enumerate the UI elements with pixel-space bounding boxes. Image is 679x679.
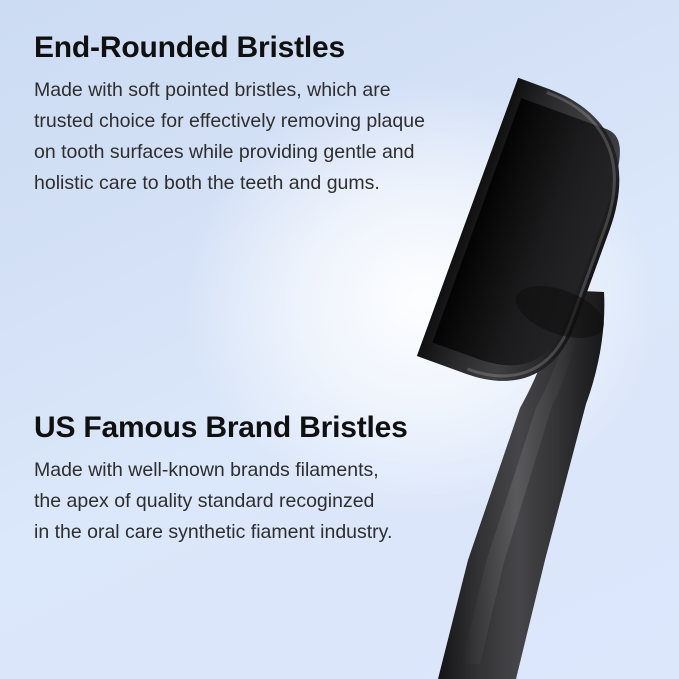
bristle-tuft-base [455, 384, 506, 402]
body-line: the apex of quality standard recoginzed [34, 486, 408, 517]
bristle-tuft-base [459, 125, 516, 146]
feature-block-us-famous-brand: US Famous Brand Bristles Made with well-… [34, 411, 408, 548]
body-line: holistic care to both the teeth and gums… [34, 168, 425, 199]
bristle-tuft-green [446, 340, 585, 403]
body-line: Made with soft pointed bristles, which a… [34, 75, 425, 106]
bristle-tuft-base [470, 97, 518, 114]
bristle-tuft-white [456, 196, 610, 264]
body-line: Made with well-known brands filaments, [34, 455, 408, 486]
bristle-tuft-tip [478, 140, 548, 165]
bristle-tuft-base [443, 345, 511, 370]
bristle-tuft-green [447, 244, 610, 316]
bristle-tuft-base [451, 251, 521, 277]
bristle-tuft-green [455, 362, 571, 416]
heading-end-rounded-bristles: End-Rounded Bristles [34, 31, 425, 65]
bristle-tuft-base [465, 174, 525, 196]
bristle-tuft-tip [451, 242, 547, 277]
bristle-tuft-white [465, 148, 602, 210]
bristle-tuft-white [444, 268, 607, 340]
bristle-tuft-tip [446, 359, 529, 389]
bristle-tuft-green [470, 76, 578, 128]
product-feature-image: End-Rounded Bristles Made with soft poin… [0, 0, 679, 679]
handle-sheen [462, 300, 580, 664]
bristle-tuft-base [478, 147, 530, 166]
heading-us-famous-brand-bristles: US Famous Brand Bristles [34, 411, 408, 445]
bristle-tuft-tip [465, 167, 547, 197]
bristle-tuft-tip [447, 266, 545, 302]
bristle-tuft-tip [442, 314, 538, 349]
toothbrush-head [417, 78, 648, 403]
neck-shadow [509, 276, 611, 349]
bristle-tuft-green [443, 316, 595, 383]
bristle-tuft-green [451, 220, 610, 290]
body-line: trusted choice for effectively removing … [34, 106, 425, 137]
bristle-tuft-tip [456, 217, 548, 251]
bristle-tuft-tip [443, 337, 534, 370]
bristle-tuft-white [442, 292, 601, 362]
bristle-tuft-tip [459, 118, 536, 146]
bristle-tuft-white [460, 172, 606, 237]
bristle-tuft-base [444, 300, 516, 326]
bristle-tuft-green [459, 100, 588, 159]
bristle-tuft-base [446, 367, 507, 389]
bristle-field [390, 70, 650, 370]
body-line: in the oral care synthetic fiament indus… [34, 517, 408, 548]
bristle-tuft-base [447, 276, 519, 302]
body-line: on tooth surfaces while providing gentle… [34, 137, 425, 168]
bristle-tuft-base [442, 323, 512, 349]
bristle-tuft-tip [455, 378, 524, 403]
bristle-tuft-base [460, 200, 525, 224]
bristle-tuft-tip [470, 91, 534, 114]
bristle-tuft-tip [460, 192, 547, 224]
bristle-tuft-tip [444, 290, 542, 326]
feature-block-end-rounded: End-Rounded Bristles Made with soft poin… [34, 31, 425, 199]
bristle-tuft-base [456, 226, 525, 251]
bristle-tuft-green [478, 124, 596, 179]
toothbrush-handle [438, 290, 604, 679]
